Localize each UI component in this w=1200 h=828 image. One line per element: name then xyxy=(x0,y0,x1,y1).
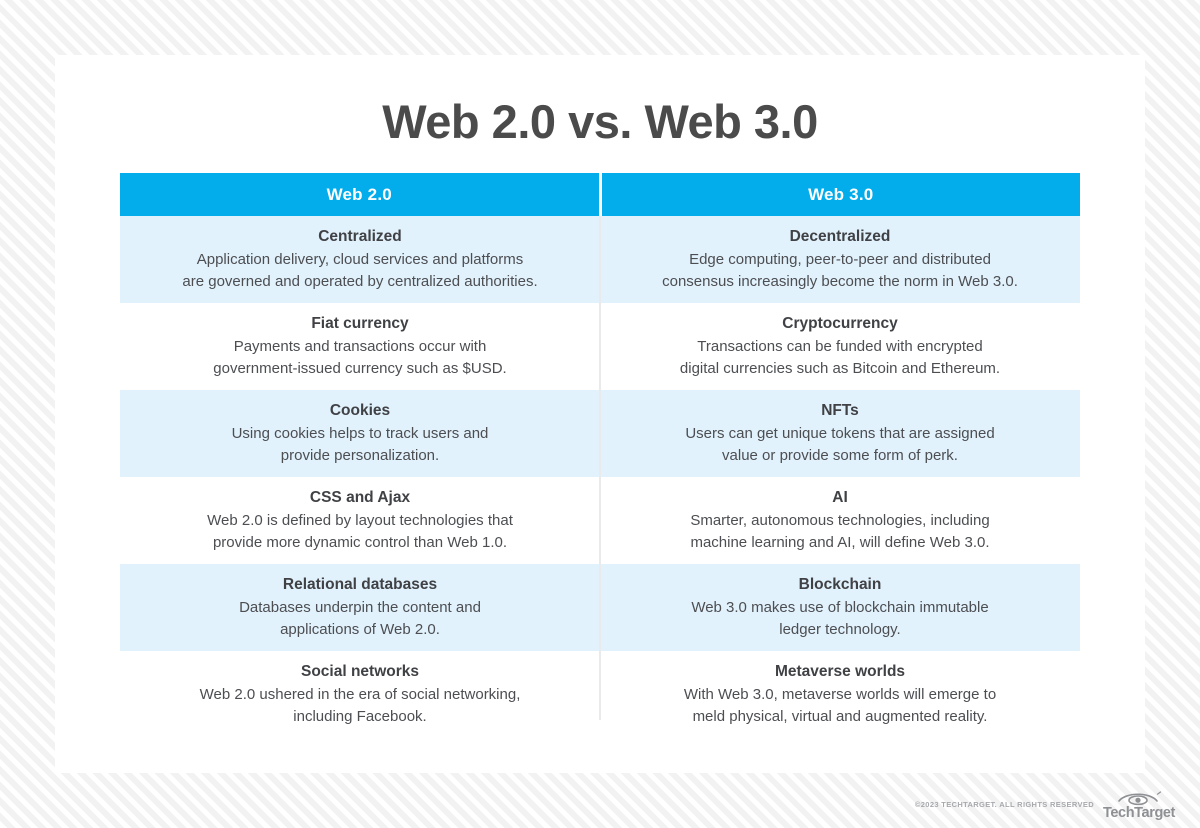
eye-icon xyxy=(1116,790,1162,805)
table-header-row: Web 2.0 Web 3.0 xyxy=(120,173,1080,216)
table-row: Fiat currency Payments and transactions … xyxy=(120,303,1080,390)
cell-description: Payments and transactions occur with gov… xyxy=(213,336,506,379)
cell-web2: Relational databases Databases underpin … xyxy=(120,564,600,651)
cell-description: Using cookies helps to track users and p… xyxy=(232,423,489,466)
comparison-table: Web 2.0 Web 3.0 Centralized Application … xyxy=(120,173,1080,738)
cell-web3: Decentralized Edge computing, peer-to-pe… xyxy=(600,216,1080,303)
cell-web3: Metaverse worlds With Web 3.0, metaverse… xyxy=(600,651,1080,738)
cell-title: CSS and Ajax xyxy=(310,488,410,507)
cell-web2: Fiat currency Payments and transactions … xyxy=(120,303,600,390)
techtarget-wordmark: TechTarget xyxy=(1103,806,1175,821)
cell-title: Decentralized xyxy=(790,227,891,246)
column-header-web2: Web 2.0 xyxy=(120,173,599,216)
cell-description: Smarter, autonomous technologies, includ… xyxy=(690,510,989,553)
cell-description: Application delivery, cloud services and… xyxy=(182,249,537,292)
cell-description: Edge computing, peer-to-peer and distrib… xyxy=(662,249,1018,292)
cell-title: AI xyxy=(832,488,848,507)
footer: ©2023 TECHTARGET. ALL RIGHTS RESERVED Te… xyxy=(915,790,1175,821)
table-row: Cookies Using cookies helps to track use… xyxy=(120,390,1080,477)
copyright-text: ©2023 TECHTARGET. ALL RIGHTS RESERVED xyxy=(915,800,1094,809)
column-header-web3-label: Web 3.0 xyxy=(808,185,873,205)
cell-web2: Social networks Web 2.0 ushered in the e… xyxy=(120,651,600,738)
cell-web2: Centralized Application delivery, cloud … xyxy=(120,216,600,303)
cell-web3: Blockchain Web 3.0 makes use of blockcha… xyxy=(600,564,1080,651)
cell-description: Web 3.0 makes use of blockchain immutabl… xyxy=(691,597,988,640)
cell-title: Fiat currency xyxy=(311,314,408,333)
cell-title: NFTs xyxy=(821,401,859,420)
cell-web3: Cryptocurrency Transactions can be funde… xyxy=(600,303,1080,390)
cell-description: With Web 3.0, metaverse worlds will emer… xyxy=(684,684,996,727)
cell-web3: NFTs Users can get unique tokens that ar… xyxy=(600,390,1080,477)
cell-description: Web 2.0 ushered in the era of social net… xyxy=(200,684,521,727)
techtarget-logo: TechTarget xyxy=(1103,790,1175,821)
cell-web2: Cookies Using cookies helps to track use… xyxy=(120,390,600,477)
table-row: Social networks Web 2.0 ushered in the e… xyxy=(120,651,1080,738)
table-body: Centralized Application delivery, cloud … xyxy=(120,216,1080,738)
cell-title: Centralized xyxy=(318,227,402,246)
cell-description: Transactions can be funded with encrypte… xyxy=(680,336,1000,379)
table-row: CSS and Ajax Web 2.0 is defined by layou… xyxy=(120,477,1080,564)
cell-web2: CSS and Ajax Web 2.0 is defined by layou… xyxy=(120,477,600,564)
cell-description: Databases underpin the content and appli… xyxy=(239,597,481,640)
cell-title: Relational databases xyxy=(283,575,437,594)
page-title: Web 2.0 vs. Web 3.0 xyxy=(55,55,1145,145)
cell-title: Cookies xyxy=(330,401,390,420)
infographic-card: Web 2.0 vs. Web 3.0 Web 2.0 Web 3.0 Cent… xyxy=(55,55,1145,773)
cell-title: Blockchain xyxy=(799,575,882,594)
cell-description: Users can get unique tokens that are ass… xyxy=(685,423,994,466)
table-row: Centralized Application delivery, cloud … xyxy=(120,216,1080,303)
cell-web3: AI Smarter, autonomous technologies, inc… xyxy=(600,477,1080,564)
table-row: Relational databases Databases underpin … xyxy=(120,564,1080,651)
cell-title: Cryptocurrency xyxy=(782,314,897,333)
column-header-web2-label: Web 2.0 xyxy=(327,185,392,205)
column-header-web3: Web 3.0 xyxy=(602,173,1081,216)
cell-title: Metaverse worlds xyxy=(775,662,905,681)
cell-description: Web 2.0 is defined by layout technologie… xyxy=(207,510,513,553)
cell-title: Social networks xyxy=(301,662,419,681)
